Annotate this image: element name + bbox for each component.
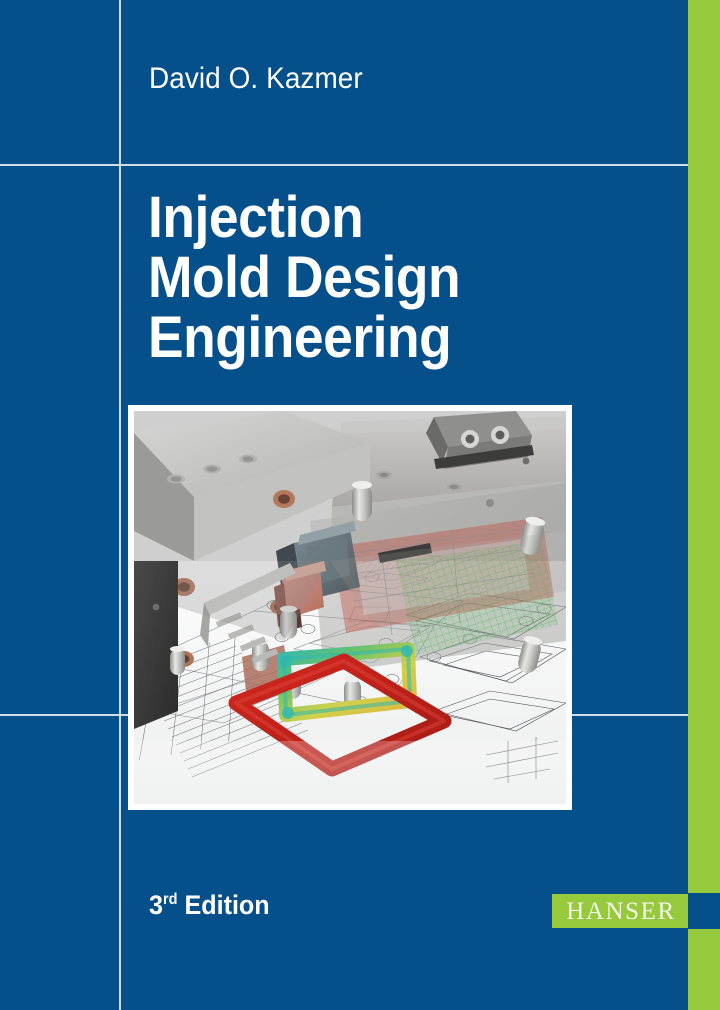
title-line-1: Injection (148, 188, 608, 248)
author-name: David O. Kazmer (149, 62, 363, 96)
edition-ordinal-suffix: rd (163, 891, 178, 908)
accent-green-bar (688, 0, 720, 1010)
edition-word: Edition (178, 890, 270, 920)
edition-label: 3rd Edition (149, 890, 270, 921)
cover-photo (134, 411, 566, 804)
edition-number: 3 (149, 890, 163, 920)
title-line-2: Mold Design (148, 248, 608, 308)
publisher-logo: HANSER (552, 894, 688, 928)
book-cover: David O. Kazmer Injection Mold Design En… (0, 0, 720, 1010)
grid-rule-horizontal-top (0, 164, 688, 166)
publisher-name: HANSER (564, 899, 676, 924)
title-line-3: Engineering (148, 308, 608, 368)
grid-rule-vertical (119, 0, 121, 1010)
mold-render-illustration (134, 411, 566, 804)
book-title: Injection Mold Design Engineering (148, 188, 648, 368)
accent-bar-notch (688, 893, 720, 929)
cover-photo-frame (128, 405, 572, 810)
